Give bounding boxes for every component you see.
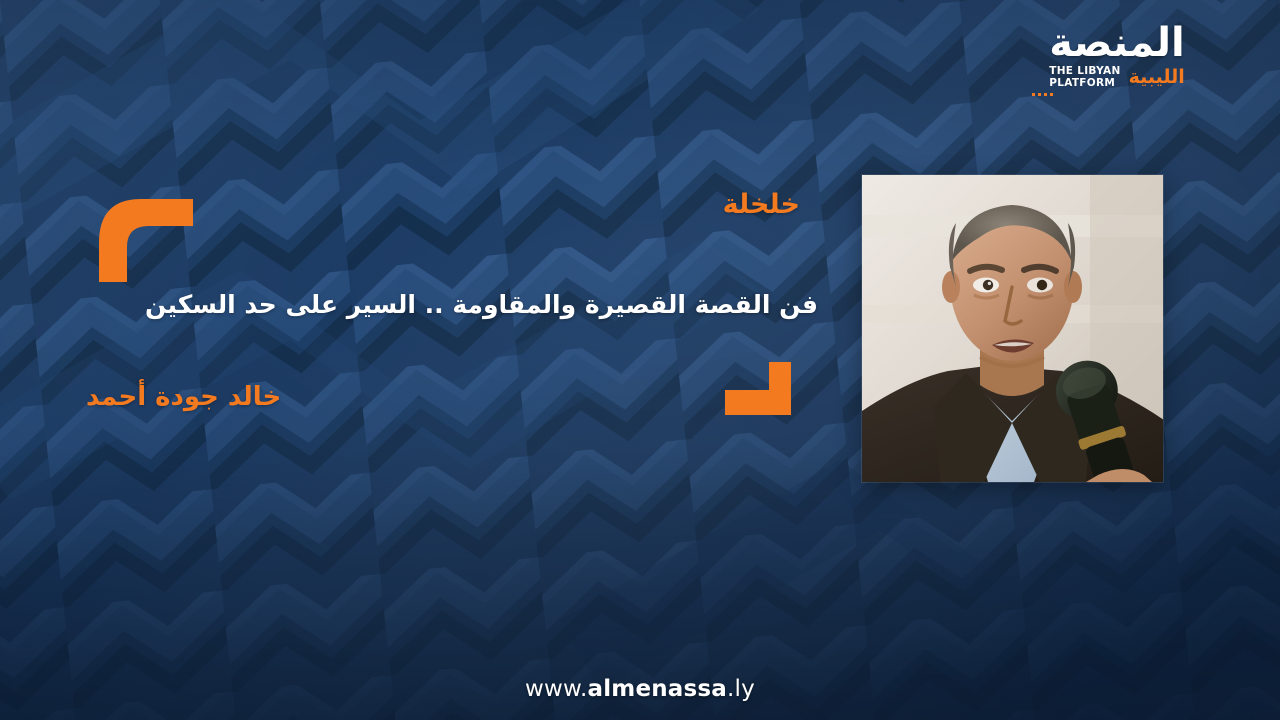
logo-english-text: THE LIBYAN PLATFORM [1049, 66, 1120, 90]
opening-quote-icon [99, 199, 193, 282]
article-title: فن القصة القصيرة والمقاومة .. السير على … [145, 288, 818, 322]
logo-arabic-text: المنصة [1049, 20, 1185, 66]
promo-card: المنصة THE LIBYAN PLATFORM الليبية [0, 0, 1280, 720]
url-brand: almenassa [587, 676, 727, 702]
closing-quote-icon [725, 362, 791, 415]
url-tld: .ly [727, 676, 755, 702]
logo-arabic-wordmark: المنصة [1032, 22, 1202, 64]
author-portrait-photo [862, 175, 1163, 482]
site-logo[interactable]: المنصة THE LIBYAN PLATFORM الليبية [1032, 22, 1202, 96]
footer-website-url[interactable]: www.almenassa.ly [0, 676, 1280, 702]
article-category-label: خلخلة [723, 189, 800, 221]
logo-subtitle-row: THE LIBYAN PLATFORM الليبية [1032, 66, 1202, 90]
url-prefix: www. [525, 676, 587, 702]
article-author-name: خالد جودة أحمد [86, 382, 281, 413]
logo-dots-decoration [1032, 93, 1114, 96]
logo-arabic-subtitle: الليبية [1129, 68, 1185, 87]
